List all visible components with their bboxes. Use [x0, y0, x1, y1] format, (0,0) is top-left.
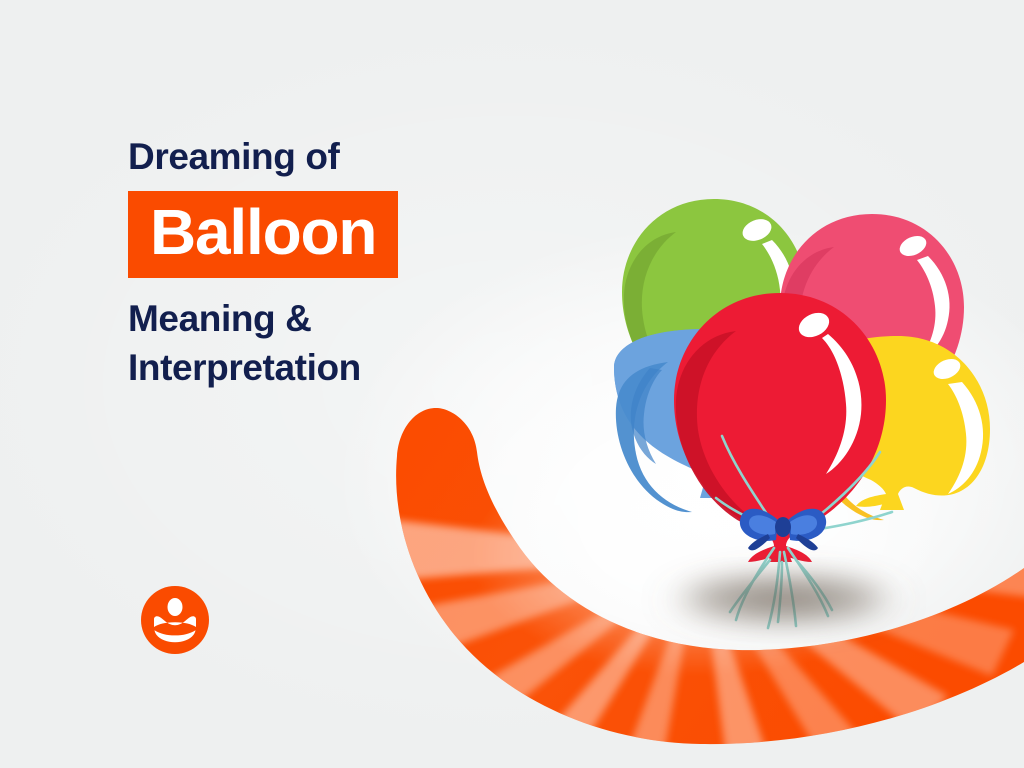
ground-shadow-core — [688, 579, 880, 615]
subtitle-text: Meaning & Interpretation — [128, 294, 458, 392]
brand-logo[interactable] — [141, 586, 209, 654]
red-tail-left — [748, 546, 776, 562]
kicker-text: Dreaming of — [128, 138, 548, 177]
red-highlight-streak — [822, 334, 861, 474]
yellow-highlight-streak — [948, 382, 983, 494]
light-rays — [348, 516, 1024, 768]
pink-highlight-dot — [897, 232, 930, 260]
blue-highlight-streak — [631, 368, 662, 464]
keyword-highlight-box: Balloon — [128, 191, 398, 278]
pink-highlight-streak — [917, 256, 950, 360]
yellow-balloon — [806, 336, 990, 520]
green-highlight-streak — [762, 240, 794, 340]
headline-block: Dreaming of Balloon Meaning & Interpreta… — [128, 138, 548, 392]
keyword-text: Balloon — [150, 200, 376, 264]
ground-shadow — [656, 570, 912, 630]
center-glow — [450, 350, 950, 690]
blue-knot — [700, 484, 723, 498]
pink-balloon — [780, 214, 964, 451]
orange-swoosh — [348, 408, 1024, 768]
yellow-highlight-dot — [931, 355, 964, 383]
green-knot — [704, 424, 724, 436]
green-highlight-dot — [739, 215, 774, 245]
yellow-knot — [880, 494, 904, 510]
balloon-cluster — [614, 199, 990, 562]
slide-canvas: Dreaming of Balloon Meaning & Interpreta… — [0, 0, 1024, 768]
green-balloon — [622, 199, 806, 436]
blue-tail — [714, 482, 742, 492]
red-highlight-dot — [795, 308, 833, 342]
ribbon-bow — [740, 509, 826, 551]
red-knot — [768, 546, 792, 562]
pink-knot — [862, 439, 882, 451]
red-balloon — [674, 293, 886, 562]
balloon-strings — [716, 436, 892, 628]
red-tail-right — [784, 546, 812, 562]
yellow-tail — [856, 494, 886, 507]
meditating-person-icon — [154, 598, 196, 642]
blue-balloon — [614, 329, 798, 512]
